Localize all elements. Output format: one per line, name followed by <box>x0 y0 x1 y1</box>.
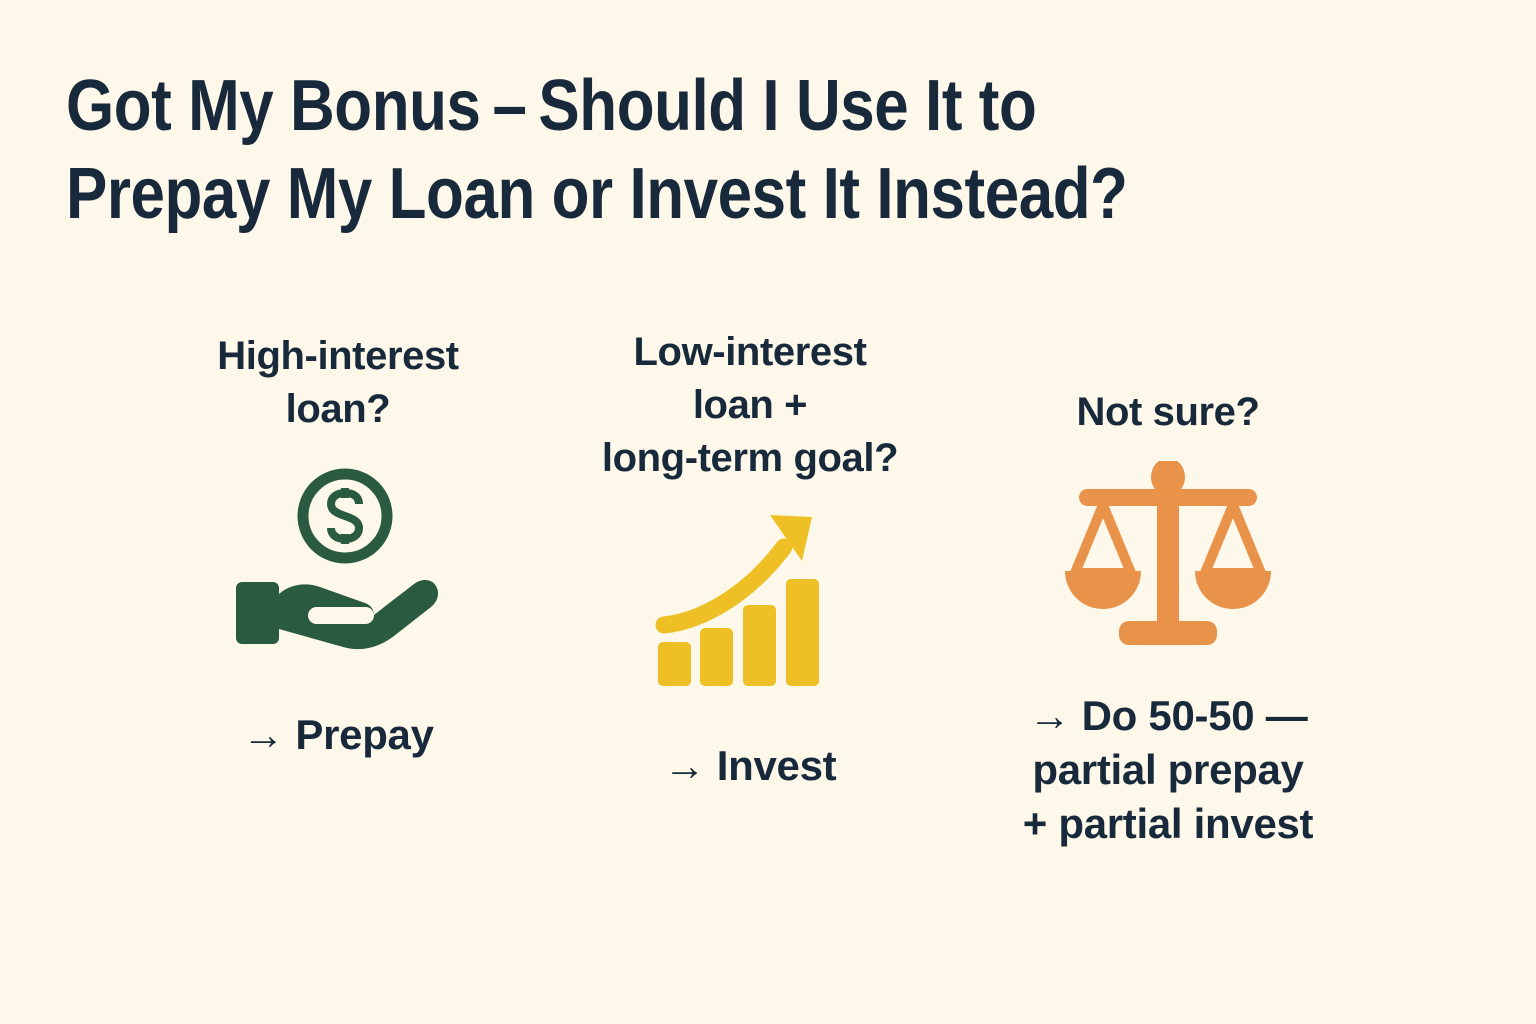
column-split-heading-line-1: Not sure? <box>1076 390 1259 434</box>
column-prepay-heading-line-1: High-interest <box>217 334 458 378</box>
column-invest: Low-interest loan + long-term goal? → In… <box>530 318 970 793</box>
column-prepay-heading: High-interest loan? <box>217 318 458 436</box>
column-split-result-line-1: → Do 50-50 — <box>1023 689 1314 743</box>
balance-scales-icon-wrap <box>1063 461 1273 653</box>
column-invest-heading: Low-interest loan + long-term goal? <box>602 318 898 485</box>
growth-bar-chart-arrow-icon-wrap <box>652 503 848 693</box>
column-invest-result: → Invest <box>664 739 837 793</box>
balance-scales-icon <box>1063 461 1273 653</box>
hand-holding-dollar-icon <box>228 466 448 666</box>
column-invest-heading-line-3: long-term goal? <box>602 436 898 480</box>
page-title-line-2: Prepay My Loan or Invest It Instead? <box>66 150 1201 238</box>
decision-columns: High-interest loan? → Prepay Low-interes… <box>0 318 1536 978</box>
growth-bar-chart-arrow-icon <box>652 503 848 693</box>
column-prepay-result-line-1: → Prepay <box>242 708 433 762</box>
column-prepay-result: → Prepay <box>242 708 433 762</box>
column-prepay: High-interest loan? → Prepay <box>118 318 558 762</box>
hand-holding-dollar-icon-wrap <box>228 466 448 666</box>
column-split-result: → Do 50-50 — partial prepay + partial in… <box>1023 689 1314 851</box>
column-split-result-line-3: + partial invest <box>1023 797 1314 851</box>
column-invest-heading-line-1: Low-interest <box>634 330 867 374</box>
column-split: Not sure? → Do <box>948 318 1388 851</box>
column-split-heading: Not sure? <box>1076 318 1259 439</box>
column-prepay-heading-line-2: loan? <box>286 387 391 431</box>
infographic-canvas: { "colors": { "background": "#FDF8E9", "… <box>0 0 1536 1024</box>
page-title-line-1: Got My Bonus – Should I Use It to <box>66 62 1201 150</box>
column-split-result-line-2: partial prepay <box>1023 743 1314 797</box>
column-invest-heading-line-2: loan + <box>693 383 807 427</box>
page-title: Got My Bonus – Should I Use It to Prepay… <box>66 62 1386 238</box>
column-invest-result-line-1: → Invest <box>664 739 837 793</box>
